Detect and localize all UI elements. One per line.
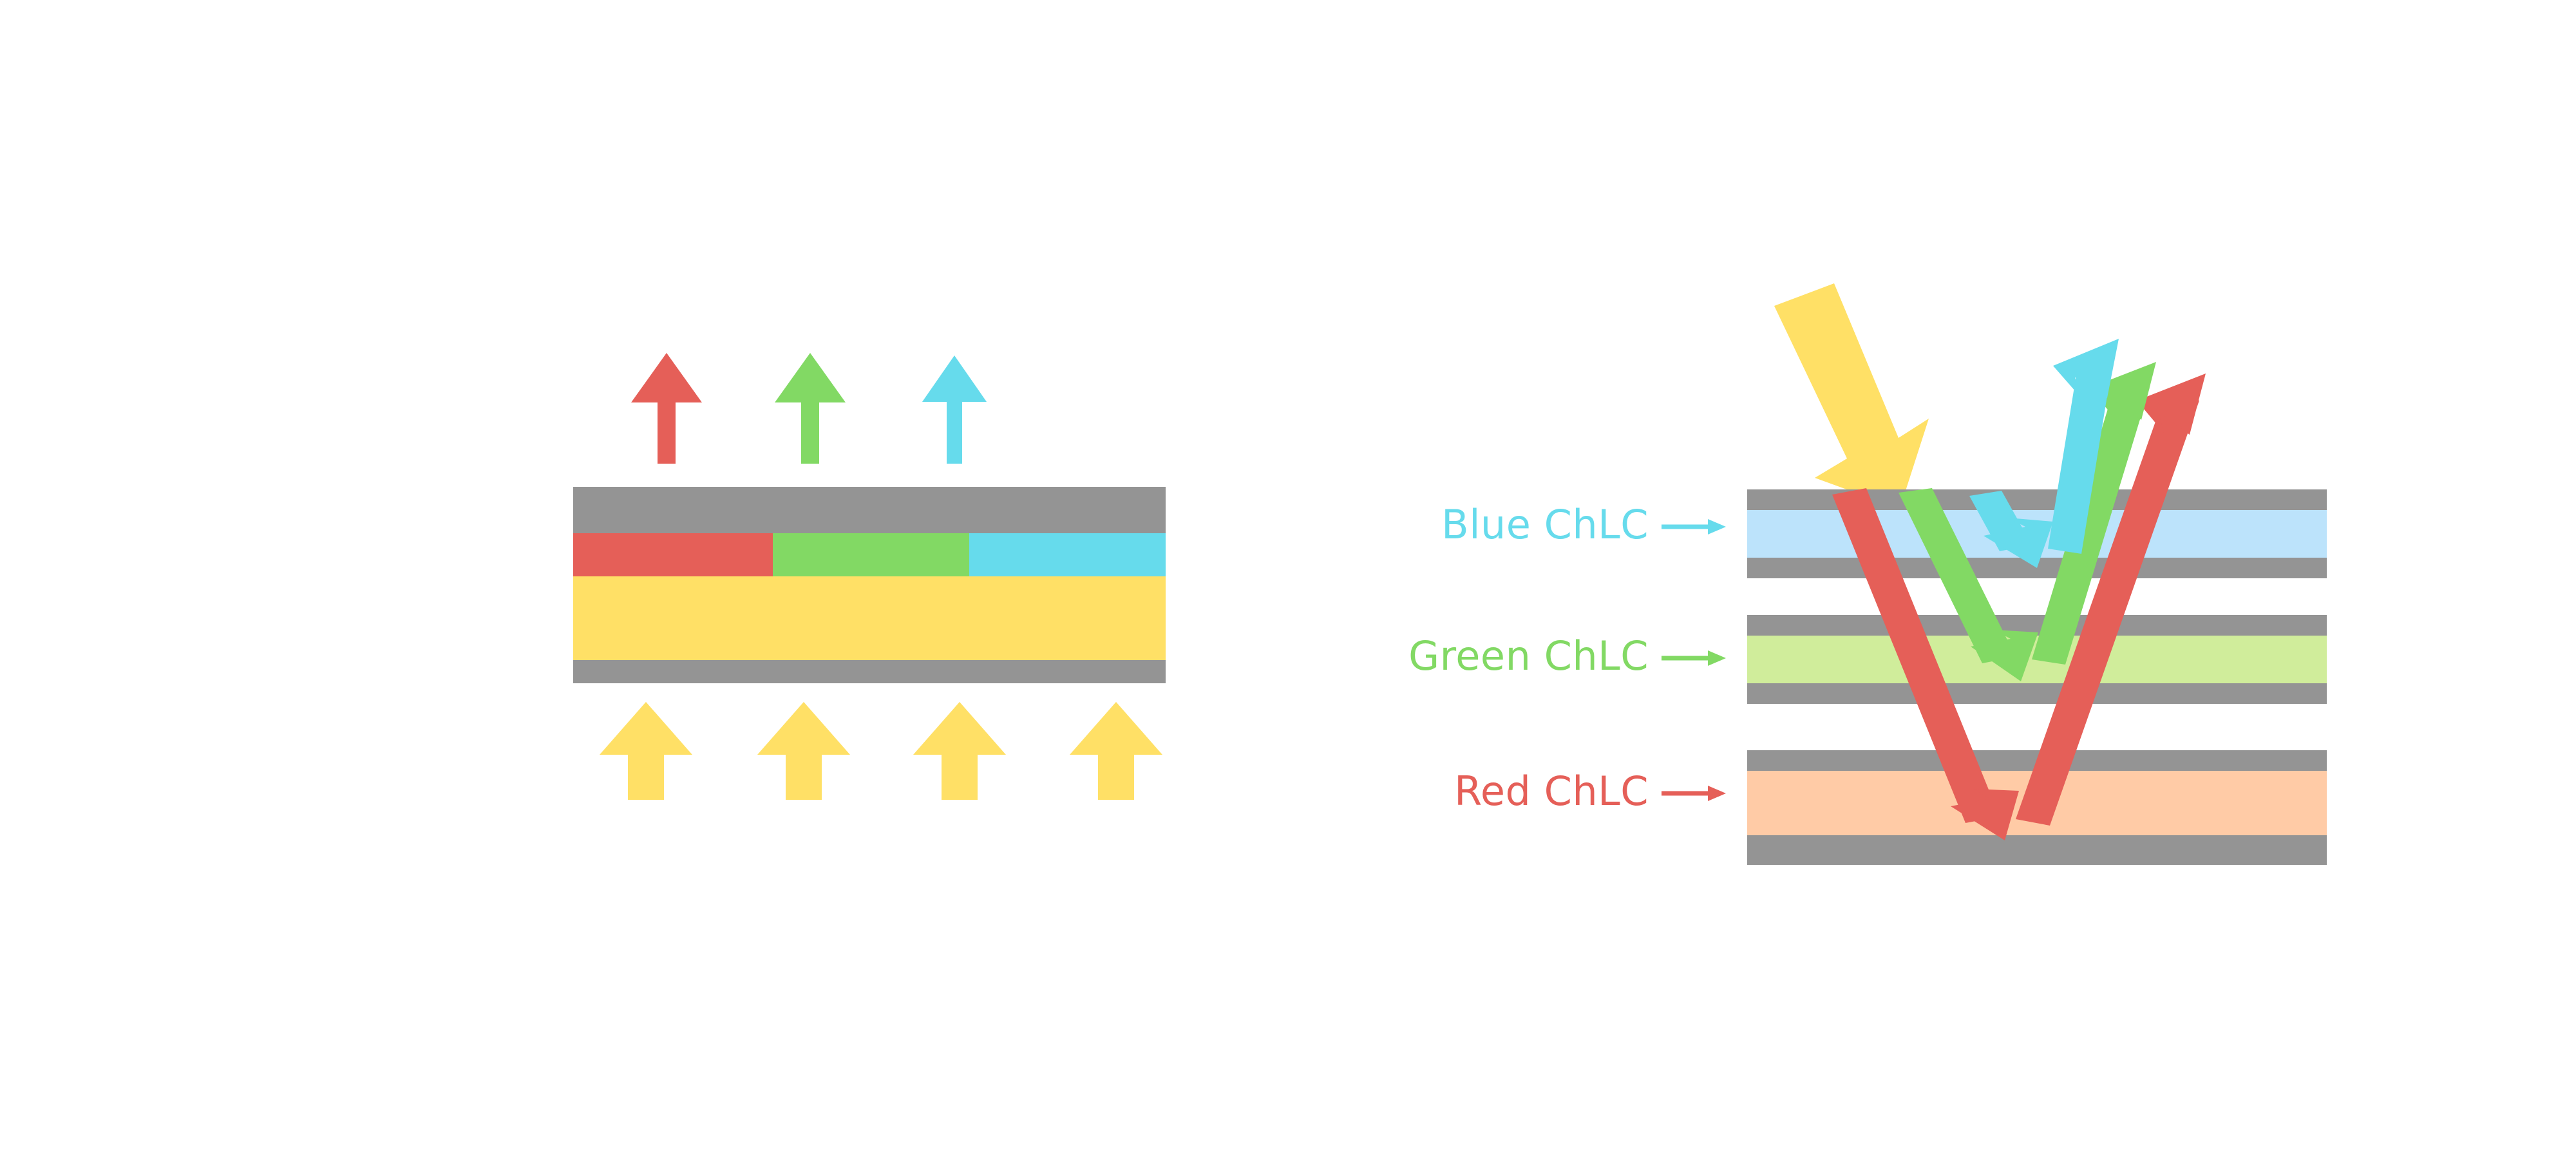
backlight-arrow-group: [600, 702, 1162, 800]
red-label-pointer-icon: [1662, 786, 1726, 801]
diagram-svg: Blue ChLC Green ChLC Red ChLC: [0, 0, 2576, 1154]
top-electrode-layer: [573, 487, 1166, 533]
blue-cell-top-electrode: [1747, 489, 2327, 510]
red-filter-segment: [573, 533, 773, 576]
blue-label-pointer-icon: [1662, 519, 1726, 534]
red-cell-bottom-electrode: [1747, 835, 2327, 865]
emissive-stack-panel: [573, 353, 1166, 800]
green-filter-segment: [773, 533, 969, 576]
backlight-arrow: [600, 702, 692, 800]
label-blue-chlc: Blue ChLC: [1441, 501, 1726, 548]
incident-white-light-arrow: [1774, 283, 1929, 509]
blue-output-ray: [922, 355, 987, 464]
yellow-emitter-layer: [573, 576, 1166, 660]
blue-chlc-label-text: Blue ChLC: [1441, 501, 1649, 548]
red-output-ray: [631, 353, 702, 464]
chlc-reflective-stack-panel: Blue ChLC Green ChLC Red ChLC: [1408, 283, 2327, 865]
cell-label-group: Blue ChLC Green ChLC Red ChLC: [1408, 501, 1726, 815]
backlight-arrow: [757, 702, 850, 800]
figure-canvas: Blue ChLC Green ChLC Red ChLC: [0, 0, 2576, 1154]
backlight-arrow: [1070, 702, 1162, 800]
blue-filter-segment: [969, 533, 1166, 576]
label-green-chlc: Green ChLC: [1408, 632, 1726, 679]
left-stack: [573, 487, 1166, 683]
red-chlc-label-text: Red ChLC: [1454, 768, 1649, 815]
output-ray-group: [631, 353, 987, 464]
green-output-ray: [775, 353, 846, 464]
backlight-arrow: [913, 702, 1006, 800]
green-cell-bottom-electrode: [1747, 683, 2327, 704]
bottom-electrode-layer: [573, 660, 1166, 683]
green-chlc-label-text: Green ChLC: [1408, 632, 1649, 679]
label-red-chlc: Red ChLC: [1454, 768, 1726, 815]
green-label-pointer-icon: [1662, 650, 1726, 666]
